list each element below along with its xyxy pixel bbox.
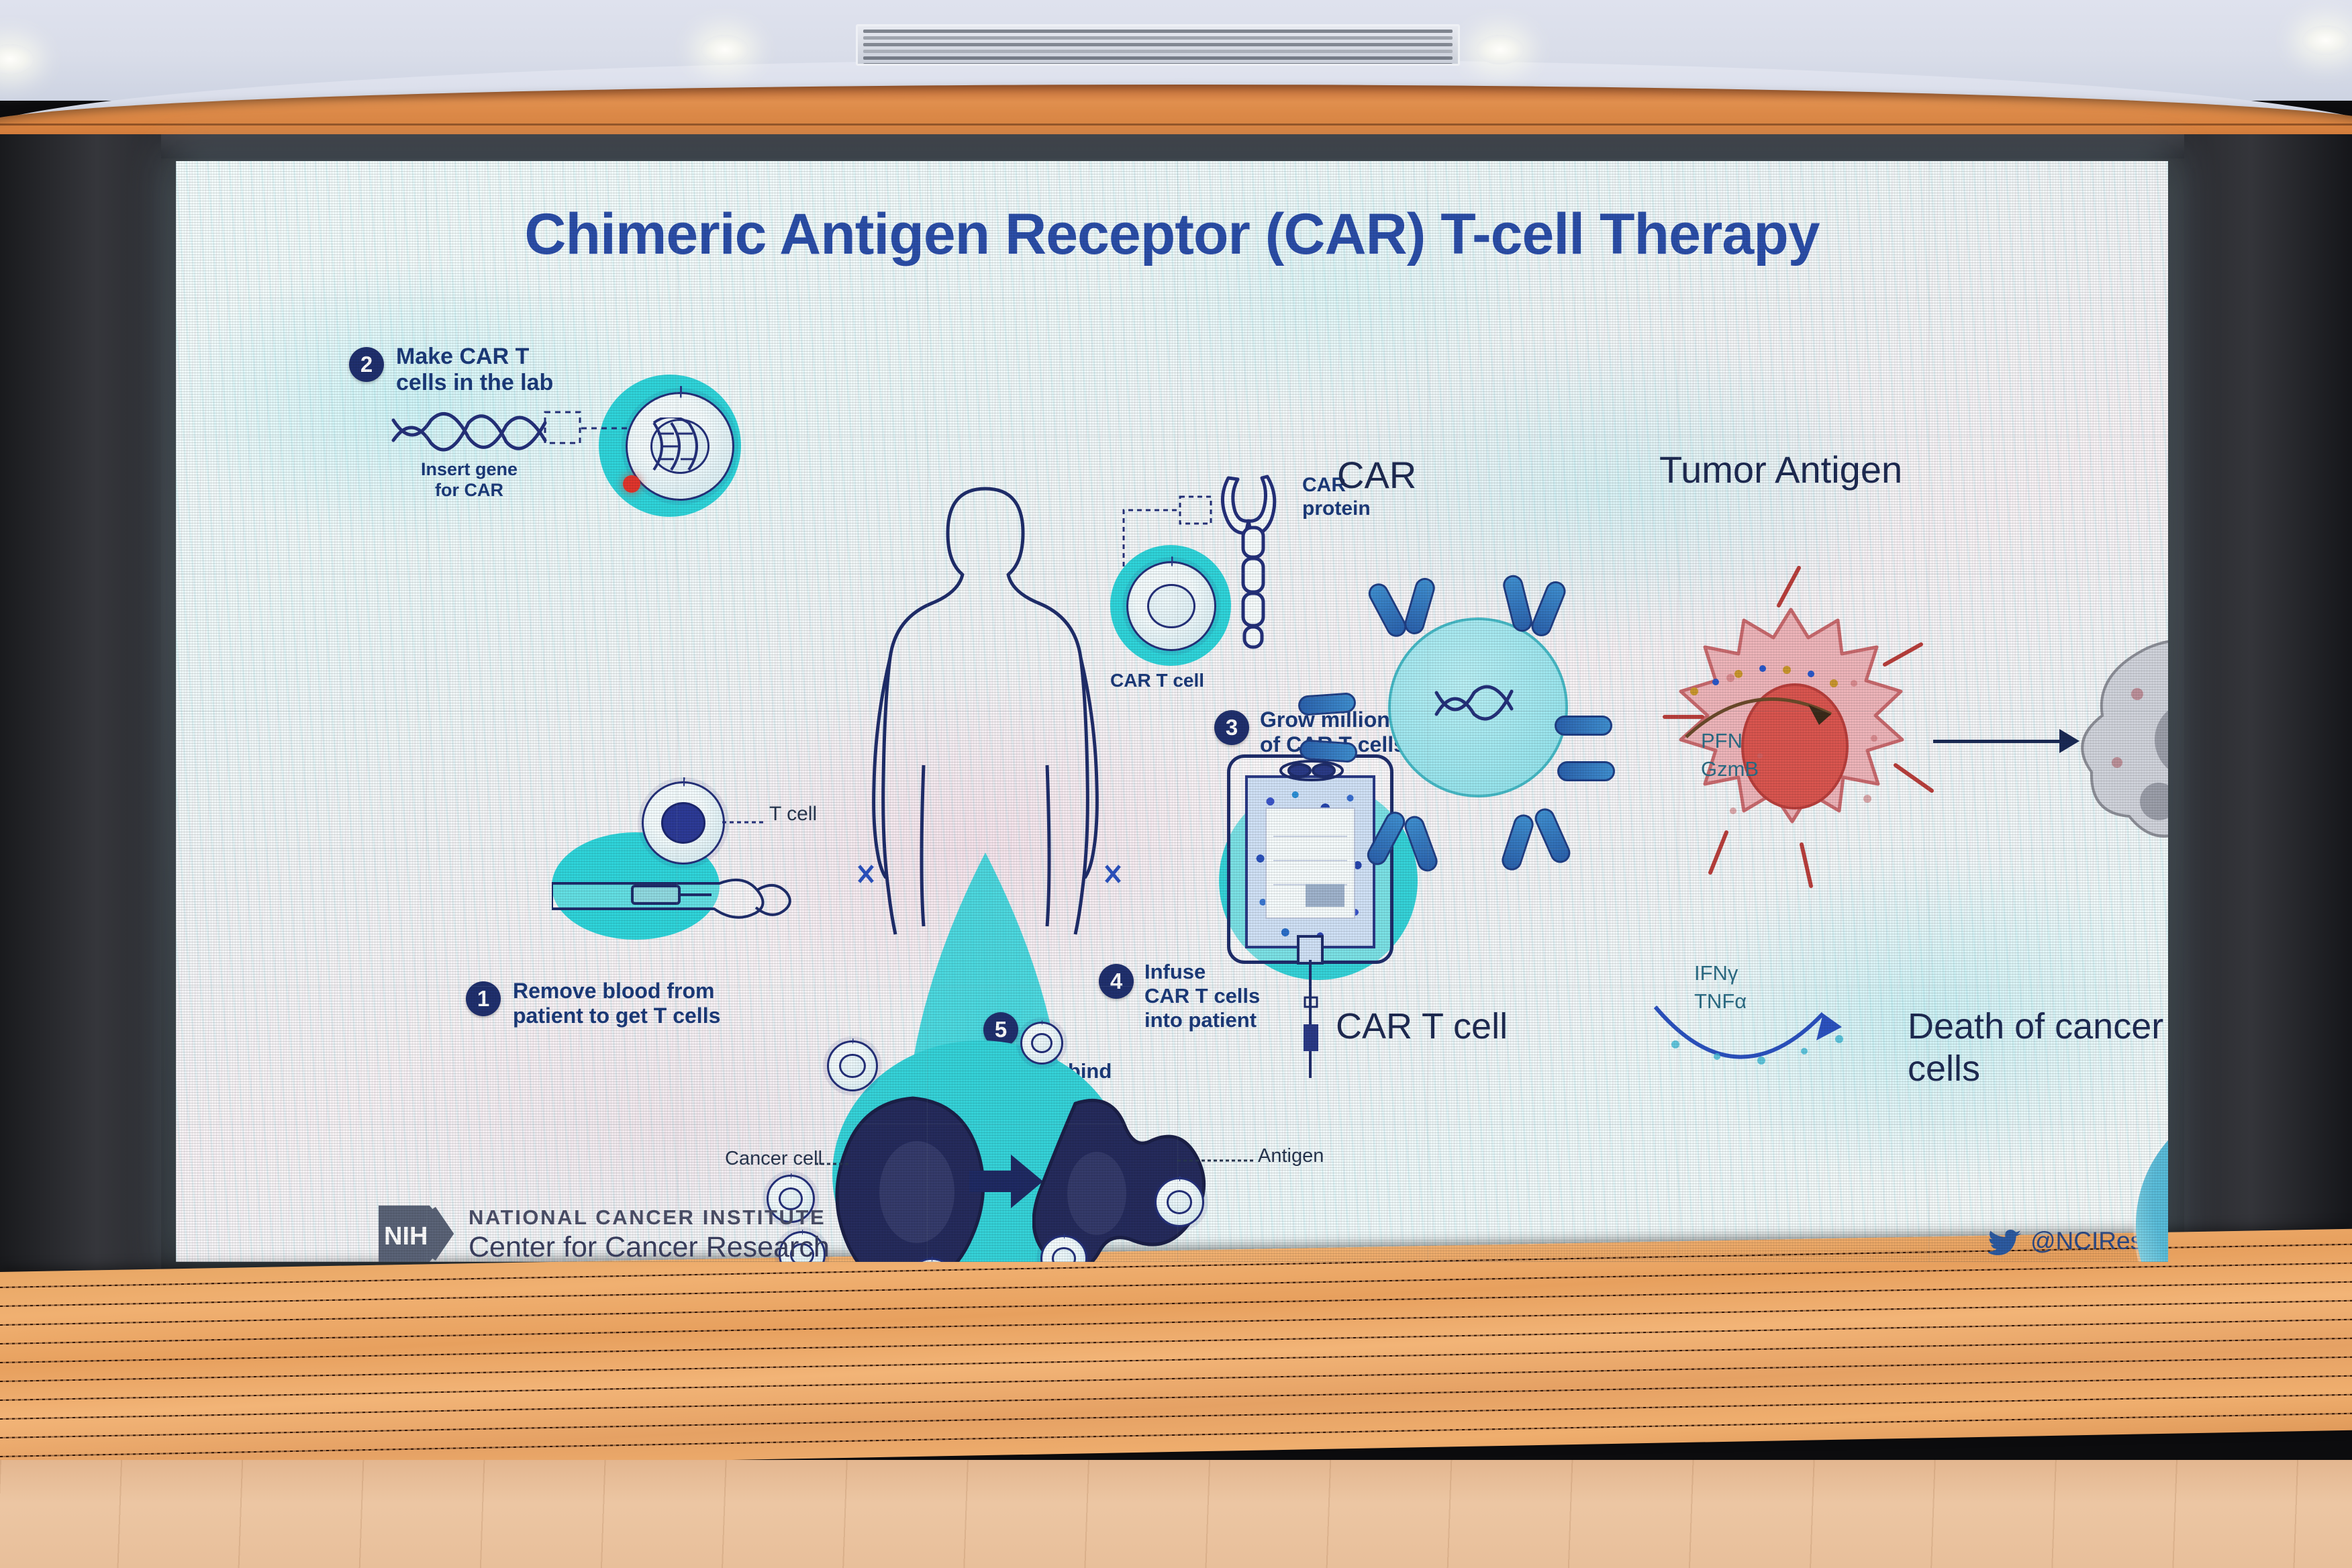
step-4-badge: 4 xyxy=(1099,964,1134,999)
car-receptor xyxy=(1532,805,1573,867)
insert-gene-dashed-connector xyxy=(544,408,631,455)
car-t-cell-illustration xyxy=(1126,561,1216,651)
slide-content: Chimeric Antigen Receptor (CAR) T-cell T… xyxy=(176,161,2168,1262)
stage-plank-seam xyxy=(0,1413,2352,1457)
stage-plank-seam xyxy=(0,1394,2352,1438)
step-2-label: Make CAR T cells in the lab xyxy=(396,344,553,397)
ceiling-downlight xyxy=(701,35,748,64)
car-receptor xyxy=(1297,692,1357,716)
step-1-label: Remove blood from patient to get T cells xyxy=(513,979,720,1028)
antigen-label: Antigen xyxy=(1258,1145,1324,1167)
arm-with-needle-illustration xyxy=(552,846,820,946)
car-receptor xyxy=(1365,580,1410,640)
twitter-bird-icon[interactable] xyxy=(1988,1230,2022,1258)
gzmb-label: GzmB xyxy=(1701,757,1759,781)
stage-front-wood-panelling xyxy=(0,1229,2352,1473)
antigen-dashed-connector xyxy=(1177,1153,1258,1168)
insert-gene-squiggle-icon xyxy=(389,411,550,460)
wall-panel-right xyxy=(2184,134,2352,1302)
car-protein-dashed-connector xyxy=(1116,487,1228,575)
iv-tubing-and-clamp xyxy=(1295,960,1326,1081)
car-receptor xyxy=(1499,812,1536,873)
presenter-video-thumbnail[interactable] xyxy=(2136,1097,2168,1262)
patient-silhouette xyxy=(844,477,1126,1108)
svg-text:NIH: NIH xyxy=(384,1222,428,1251)
t-cell-label: T cell xyxy=(769,803,817,826)
cell-death-arrow-line xyxy=(1933,740,2061,743)
car-receptor-binding xyxy=(1557,761,1615,781)
insert-gene-label: Insert gene for CAR xyxy=(392,459,546,501)
car-receptor xyxy=(1528,579,1569,640)
cytotoxin-granules xyxy=(1674,659,1875,720)
stage-floor xyxy=(0,1460,2352,1568)
step-3-badge: 3 xyxy=(1214,710,1249,745)
tumor-antigen-heading: Tumor Antigen xyxy=(1659,448,1902,492)
stage-plank-seam xyxy=(0,1263,2352,1307)
ceiling-downlight xyxy=(2302,26,2349,55)
stage-plank-seam xyxy=(0,1319,2352,1363)
attacking-car-t-cell xyxy=(1155,1177,1204,1227)
step2-dna-helix-icon xyxy=(644,418,718,475)
stage-plank-seam xyxy=(0,1357,2352,1401)
death-of-cancer-cells-heading: Death of cancer cells xyxy=(1908,1006,2168,1089)
car-receptor-binding xyxy=(1555,716,1612,736)
attacking-car-t-cell xyxy=(1020,1022,1063,1065)
car-receptor xyxy=(1299,739,1358,763)
cancer-cell-dashed-connector xyxy=(815,1157,852,1171)
stage-plank-seam xyxy=(0,1281,2352,1326)
car-t-cell-large-dna-icon xyxy=(1432,683,1526,734)
car-t-cell-heading: CAR T cell xyxy=(1336,1006,1508,1048)
dead-cancer-cells-cluster xyxy=(2073,622,2168,890)
step-1-badge: 1 xyxy=(466,981,501,1016)
floor-board-lines xyxy=(0,1460,2352,1568)
presentation-screen[interactable]: Chimeric Antigen Receptor (CAR) T-cell T… xyxy=(176,161,2168,1262)
step-4-label: Infuse CAR T cells into patient xyxy=(1144,960,1260,1032)
t-cell-dashed-connector xyxy=(721,814,769,831)
ceiling-air-vent xyxy=(856,24,1460,66)
footer-org-line2: Center for Cancer Research xyxy=(469,1231,830,1262)
car-receptor xyxy=(1402,576,1438,637)
stage-plank-seam xyxy=(0,1300,2352,1344)
car-heading: CAR xyxy=(1337,454,1416,497)
wall-panel-left xyxy=(0,134,161,1302)
webcam-halo xyxy=(2136,1097,2168,1262)
ceiling-downlight xyxy=(1477,35,1524,64)
nih-logo: NIH xyxy=(377,1202,455,1262)
patient-injection-markers xyxy=(854,859,1136,899)
red-gene-dot-icon xyxy=(623,475,640,493)
wall-upper-strip xyxy=(161,134,2184,158)
attacking-car-t-cell xyxy=(827,1040,878,1091)
step-2-badge: 2 xyxy=(349,347,384,382)
iv-bag-label-window xyxy=(1265,807,1355,919)
auditorium-room: Chimeric Antigen Receptor (CAR) T-cell T… xyxy=(0,0,2352,1568)
cytokine-particles xyxy=(1659,1020,1861,1074)
stage-plank-seam xyxy=(0,1338,2352,1382)
cancer-cell-label: Cancer cell xyxy=(725,1148,822,1170)
page-title: Chimeric Antigen Receptor (CAR) T-cell T… xyxy=(176,201,2168,268)
footer-org-line1: NATIONAL CANCER INSTITUTE xyxy=(469,1206,826,1230)
stage-plank-seam xyxy=(0,1375,2352,1420)
